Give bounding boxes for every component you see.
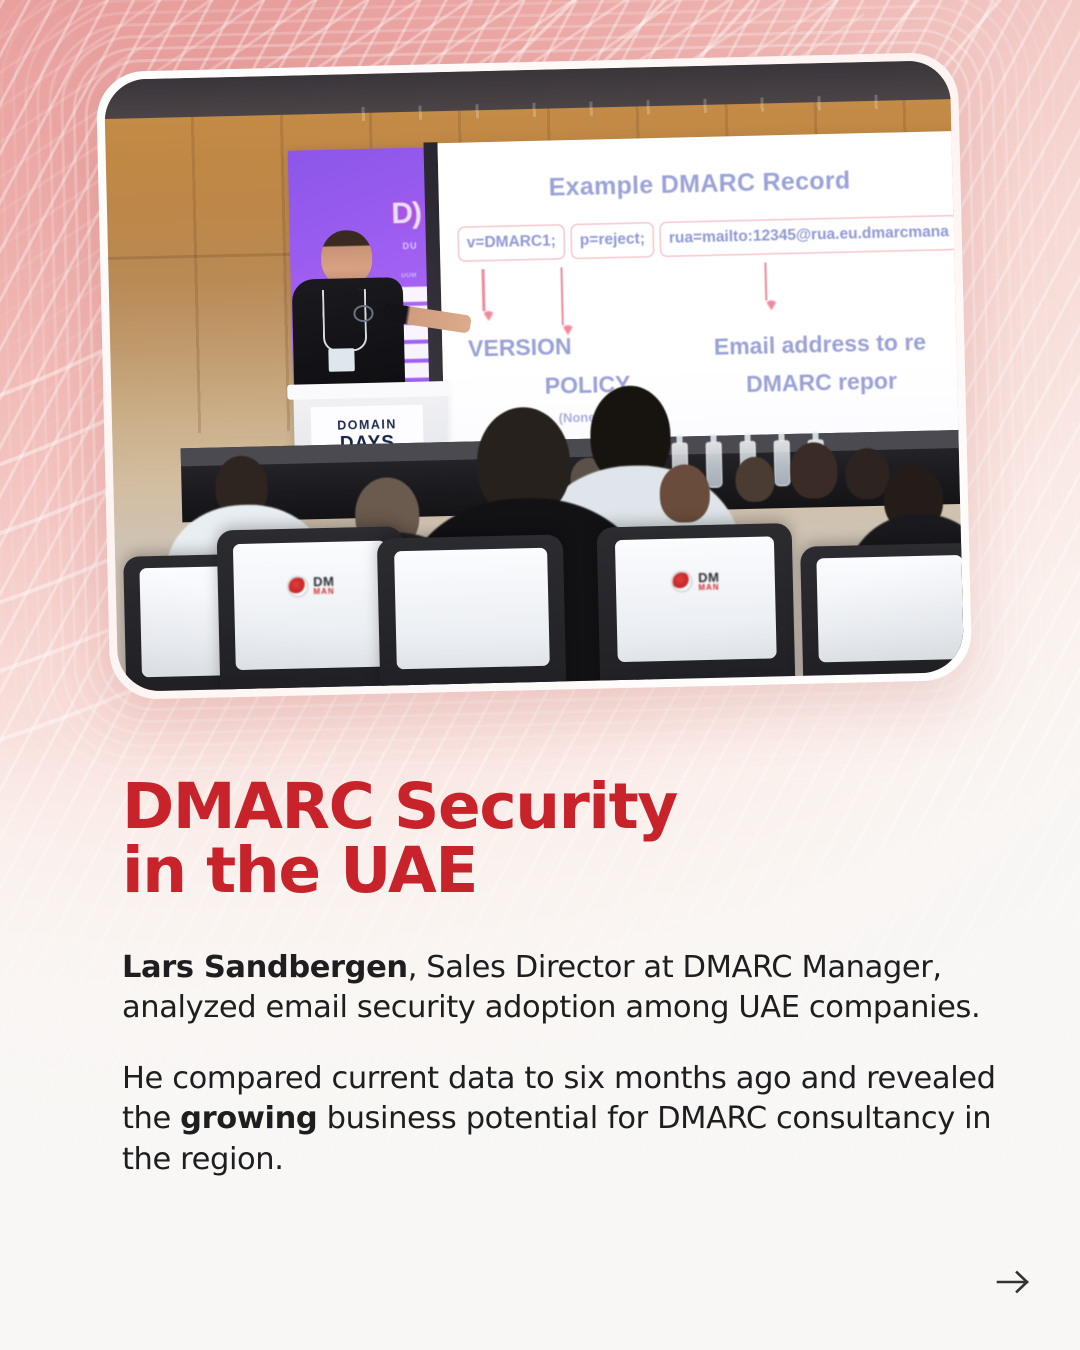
audience-head <box>735 456 775 502</box>
chair-logo-line1: DM <box>698 570 720 583</box>
speaker-badge <box>329 348 355 372</box>
presentation-photo-card: D) DU DOM Cl#TU Gd MEPU InterNet gthu Ex… <box>96 52 973 700</box>
page-title-line1: DMARC Security <box>122 770 677 843</box>
conference-presentation-photo: D) DU DOM Cl#TU Gd MEPU InterNet gthu Ex… <box>104 60 964 692</box>
dmarc-tag-policy: p=reject; <box>571 222 655 259</box>
chair-logo-line1: DM <box>313 575 335 588</box>
page-title: DMARC Security in the UAE <box>122 775 1002 904</box>
chair-cover: DM MAN <box>233 540 389 670</box>
chair-logo-text: DM MAN <box>313 575 335 596</box>
chair-cover: DM MAN <box>615 537 777 663</box>
banner-logo: D) <box>391 196 421 231</box>
chair-logo: DM MAN <box>671 570 720 593</box>
paragraph-bold-text: Lars Sandbergen <box>122 950 408 985</box>
water-bottle <box>773 440 790 486</box>
podium-top <box>287 381 452 400</box>
chair-cover <box>817 555 964 663</box>
page-title-line2: in the UAE <box>122 839 1002 903</box>
chair: DM MAN <box>597 523 795 692</box>
chair-logo-mark <box>286 575 309 598</box>
chair-logo-line2: MAN <box>313 588 334 596</box>
arrow-right-icon <box>996 1270 1032 1294</box>
slide-arrow-version <box>482 269 485 311</box>
dmarc-record-tags: v=DMARC1; p=reject; rua=mailto:12345@rua… <box>457 215 964 262</box>
dmarc-tag-version: v=DMARC1; <box>457 225 565 263</box>
slide-label-version: VERSION <box>468 333 572 362</box>
chair-logo-mark <box>671 570 694 593</box>
slide-label-email-line2: DMARC repor <box>746 368 897 399</box>
paragraph: He compared current data to six months a… <box>122 1059 1002 1181</box>
text-content: DMARC Security in the UAE Lars Sandberge… <box>122 775 1002 1180</box>
banner-logo-accent: ) <box>412 196 422 229</box>
slide-arrow-policy <box>560 268 564 326</box>
chair-logo-line2: MAN <box>698 583 719 591</box>
next-button[interactable] <box>992 1260 1036 1304</box>
paragraph: Lars Sandbergen, Sales Director at DMARC… <box>122 948 1002 1029</box>
chair-logo-text: DM MAN <box>698 570 720 591</box>
dmarc-tag-rua: rua=mailto:12345@rua.eu.dmarcmana <box>660 215 959 257</box>
slide-label-email-line1: Email address to re <box>714 329 927 361</box>
chair-logo: DM MAN <box>286 574 335 597</box>
banner-logo-letter: D <box>391 196 412 229</box>
body-copy: Lars Sandbergen, Sales Director at DMARC… <box>122 948 1002 1181</box>
slide-arrow-rua <box>764 263 767 301</box>
slide-title: Example DMARC Record <box>438 164 961 205</box>
chair-cover <box>394 548 549 669</box>
audience-head <box>845 447 890 499</box>
podium-sign-line1: DOMAIN <box>337 417 397 432</box>
chair <box>377 534 567 691</box>
slide-label-policy-sub: (None <box>558 410 595 426</box>
speaker-shirt-logo <box>353 305 374 322</box>
audience-head <box>789 442 838 498</box>
chair <box>800 543 964 688</box>
paragraph-bold-text: growing <box>180 1101 317 1136</box>
